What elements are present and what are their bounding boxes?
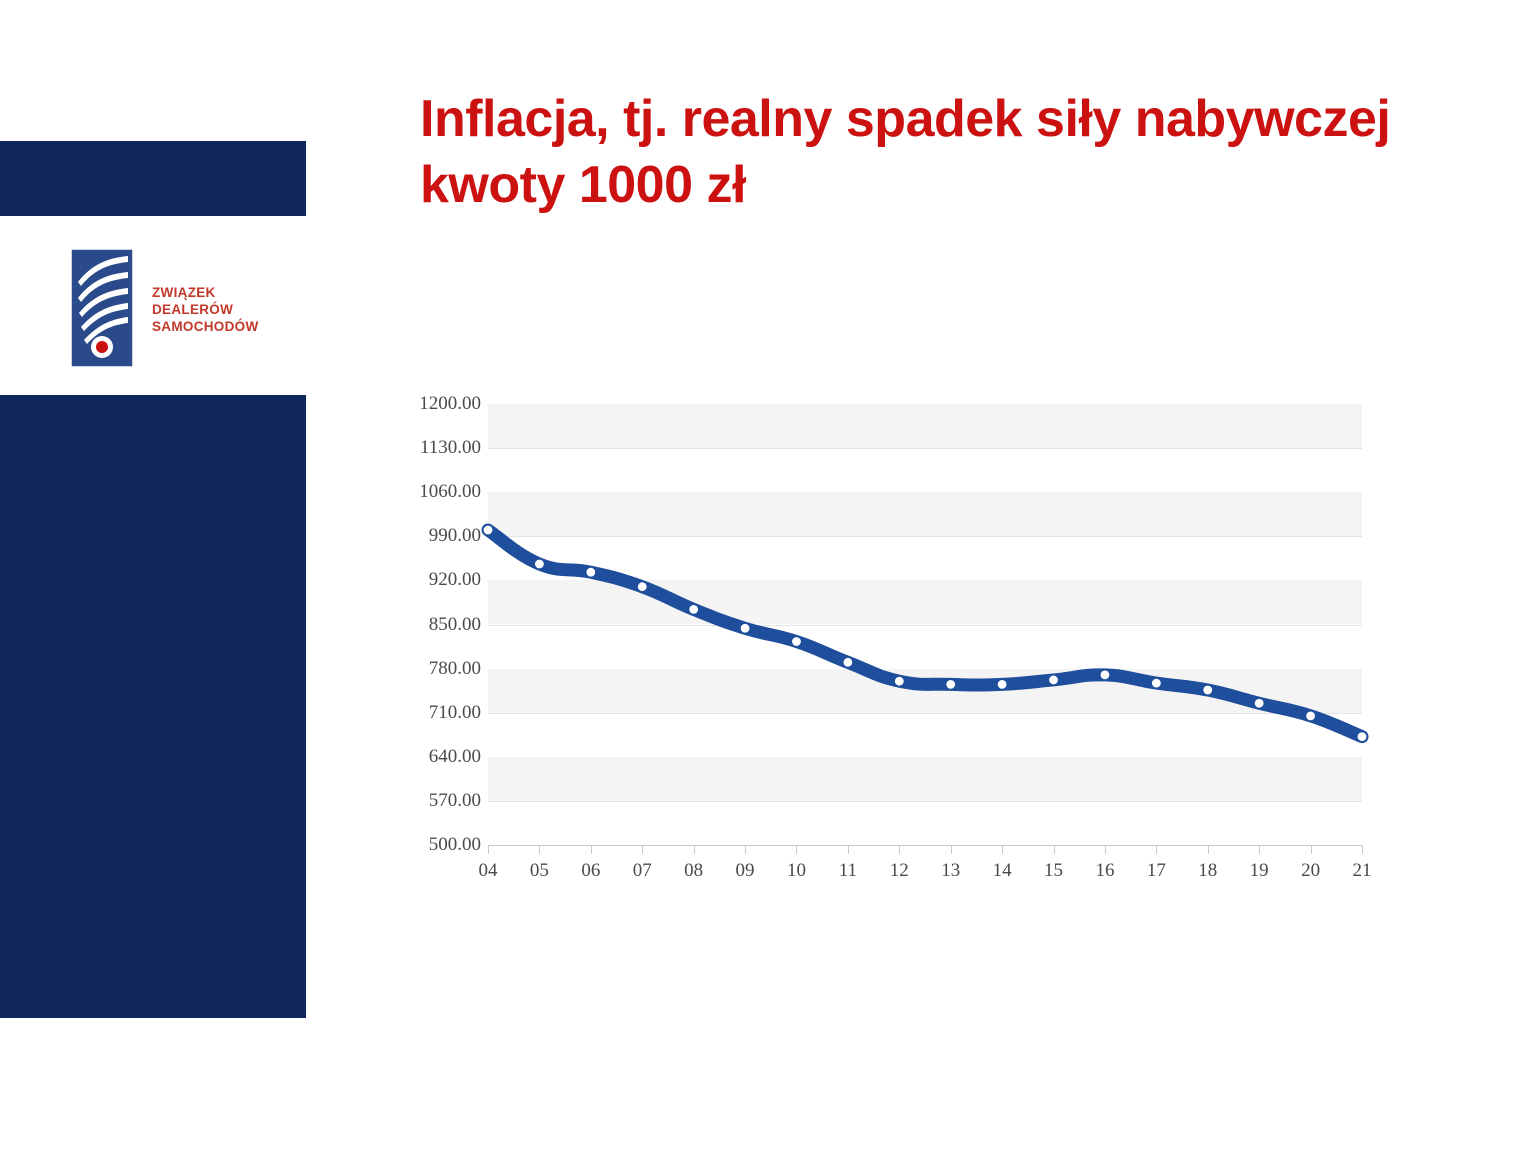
x-tick-mark	[1054, 845, 1055, 854]
x-tick-mark	[591, 845, 592, 854]
x-tick-mark	[1105, 845, 1106, 854]
x-tick-mark	[488, 845, 489, 854]
x-tick-label: 05	[519, 860, 559, 882]
y-tick-label: 710.00	[395, 702, 481, 724]
y-tick-label: 500.00	[395, 834, 481, 856]
x-tick-mark	[848, 845, 849, 854]
data-point-marker	[586, 568, 595, 577]
data-point-marker	[1152, 679, 1161, 688]
y-tick-label: 920.00	[395, 569, 481, 591]
x-tick-mark	[1208, 845, 1209, 854]
x-tick-mark	[1362, 845, 1363, 854]
data-point-marker	[638, 582, 647, 591]
data-point-marker	[1203, 686, 1212, 695]
data-point-marker	[946, 680, 955, 689]
x-tick-mark	[694, 845, 695, 854]
x-tick-label: 12	[879, 860, 919, 882]
data-point-marker	[1101, 671, 1110, 680]
y-tick-label: 640.00	[395, 746, 481, 768]
data-point-marker	[843, 658, 852, 667]
y-tick-label: 780.00	[395, 658, 481, 680]
data-point-marker	[1255, 699, 1264, 708]
y-tick-label: 1130.00	[395, 437, 481, 459]
y-tick-label: 1060.00	[395, 481, 481, 503]
x-tick-mark	[745, 845, 746, 854]
data-point-marker	[792, 637, 801, 646]
y-tick-label: 850.00	[395, 614, 481, 636]
logo-line-2: DEALERÓW	[152, 301, 259, 318]
x-tick-mark	[1311, 845, 1312, 854]
x-tick-label: 21	[1342, 860, 1382, 882]
y-axis-labels: 1200.001130.001060.00990.00920.00850.007…	[395, 404, 481, 845]
logo-mark-icon	[70, 248, 134, 368]
x-tick-label: 16	[1085, 860, 1125, 882]
x-tick-mark	[1002, 845, 1003, 854]
logo-line-3: SAMOCHODÓW	[152, 318, 259, 335]
x-tick-label: 08	[674, 860, 714, 882]
x-tick-mark	[1156, 845, 1157, 854]
x-tick-label: 14	[982, 860, 1022, 882]
x-axis-line	[488, 845, 1362, 846]
decorative-sidebar	[0, 0, 306, 1152]
sidebar-band-top	[0, 141, 306, 216]
y-tick-label: 570.00	[395, 790, 481, 812]
logo-wordmark: ZWIĄZEK DEALERÓW SAMOCHODÓW	[152, 284, 259, 335]
x-tick-label: 20	[1291, 860, 1331, 882]
x-tick-label: 06	[571, 860, 611, 882]
x-tick-mark	[539, 845, 540, 854]
data-point-marker	[895, 677, 904, 686]
data-point-marker	[1049, 676, 1058, 685]
x-tick-label: 09	[725, 860, 765, 882]
plot-area	[488, 404, 1362, 845]
data-point-marker	[1306, 711, 1315, 720]
y-tick-label: 1200.00	[395, 393, 481, 415]
x-tick-label: 11	[828, 860, 868, 882]
x-tick-mark	[899, 845, 900, 854]
data-point-marker	[535, 560, 544, 569]
slide-title: Inflacja, tj. realny spadek siły nabywcz…	[420, 86, 1430, 218]
data-point-marker	[741, 624, 750, 633]
series-line	[488, 404, 1362, 845]
x-tick-mark	[1259, 845, 1260, 854]
series-path	[488, 530, 1362, 737]
x-tick-mark	[642, 845, 643, 854]
data-point-marker	[1358, 732, 1367, 741]
x-tick-label: 19	[1239, 860, 1279, 882]
sidebar-band-bottom	[0, 395, 306, 1018]
data-point-marker	[998, 680, 1007, 689]
x-tick-label: 18	[1188, 860, 1228, 882]
data-point-marker	[484, 526, 493, 535]
x-tick-label: 17	[1136, 860, 1176, 882]
organization-logo: ZWIĄZEK DEALERÓW SAMOCHODÓW	[70, 248, 270, 373]
x-tick-label: 10	[776, 860, 816, 882]
y-tick-label: 990.00	[395, 525, 481, 547]
x-tick-label: 15	[1034, 860, 1074, 882]
x-tick-label: 04	[468, 860, 508, 882]
x-tick-label: 13	[931, 860, 971, 882]
inflation-line-chart: 1200.001130.001060.00990.00920.00850.007…	[395, 388, 1385, 898]
logo-line-1: ZWIĄZEK	[152, 284, 259, 301]
x-tick-label: 07	[622, 860, 662, 882]
data-point-marker	[689, 605, 698, 614]
x-tick-mark	[951, 845, 952, 854]
x-tick-mark	[796, 845, 797, 854]
